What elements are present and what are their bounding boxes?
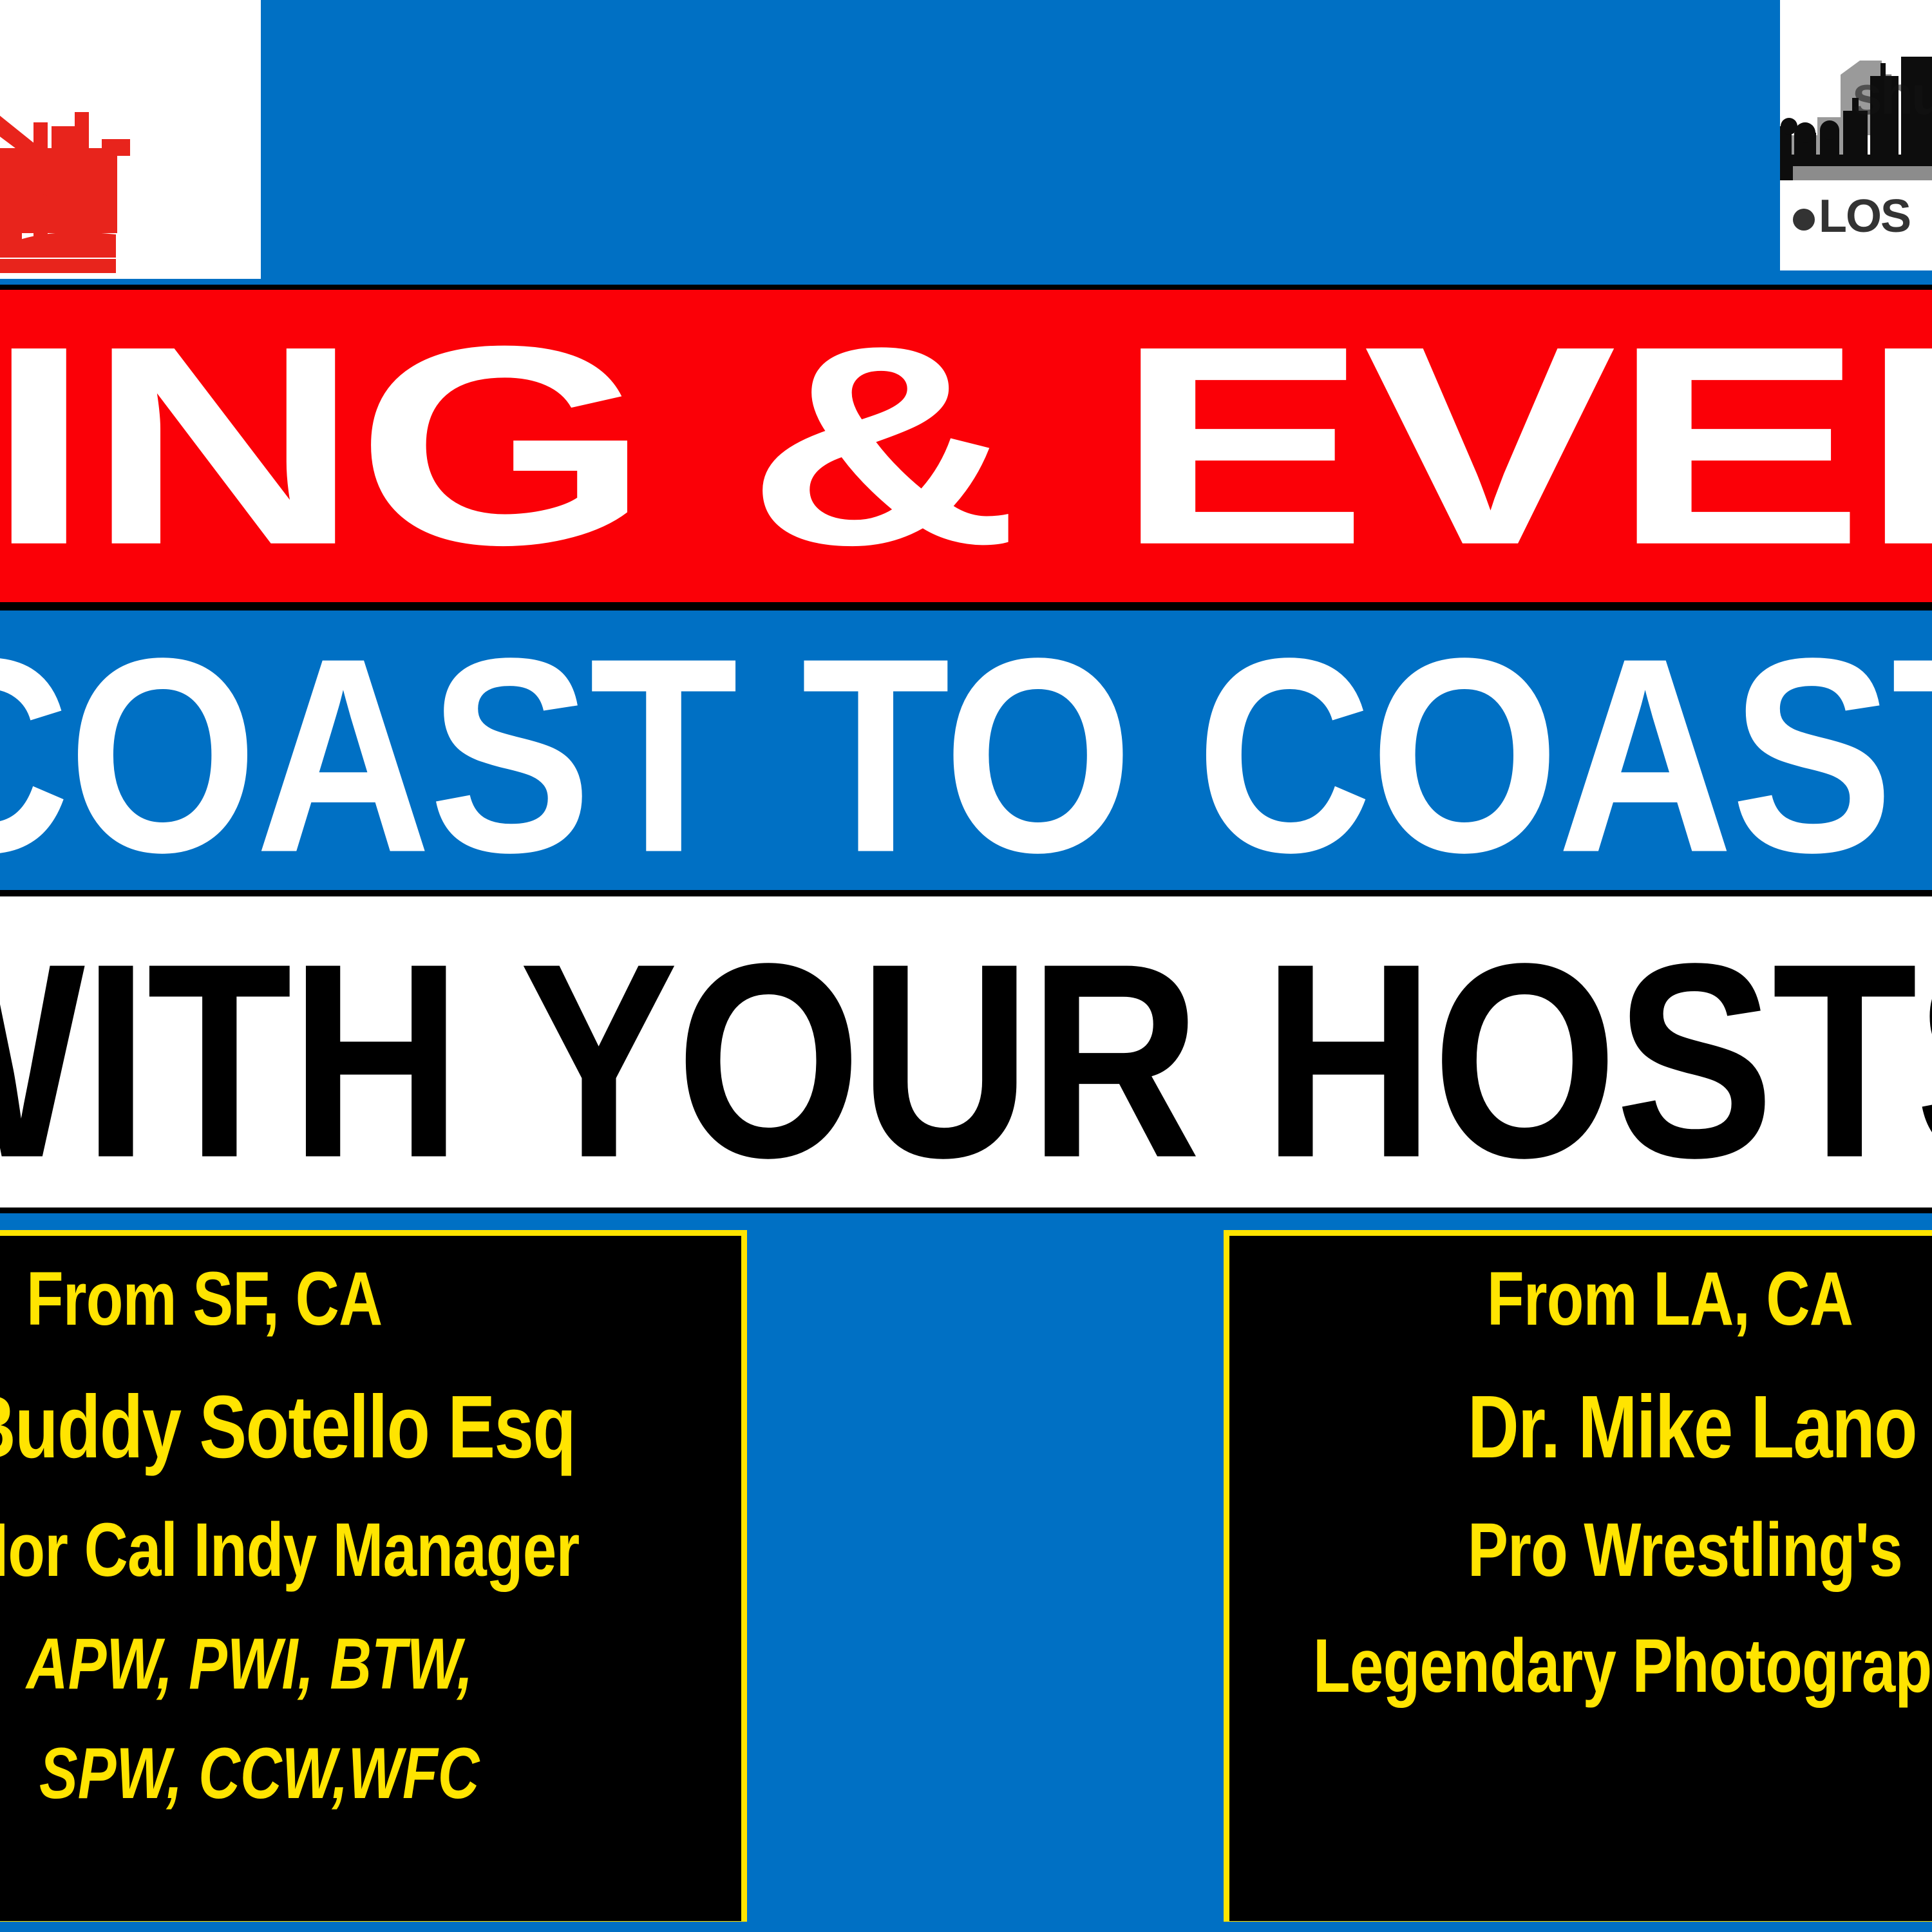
hosts-area: From SF, CA Buddy Sotello Esq Nor Cal In…: [0, 1213, 1932, 1932]
host-sf-promotions-2: SPW, CCW,WFC: [39, 1732, 479, 1815]
los-angeles-label: LOS: [1793, 193, 1910, 240]
los-text: LOS: [1819, 191, 1910, 242]
la-logo-box: shu LOS: [1780, 0, 1932, 270]
host-la-name: Dr. Mike Lano: [1468, 1376, 1917, 1479]
host-la-role-2: Legendary Photographer: [1313, 1622, 1932, 1710]
separator-blue-1: [0, 279, 1932, 285]
show-title-primary: WRESTLING & EVERYTHING: [0, 324, 1932, 567]
footer-blue-strip: [0, 1922, 1932, 1932]
white-hosts-banner: WITH YOUR HOSTS: [0, 896, 1932, 1207]
host-sf-city: From SF, CA: [26, 1255, 382, 1343]
host-sf-role: Nor Cal Indy Manager: [0, 1506, 579, 1594]
sf-logo-box: [0, 0, 261, 279]
separator-black-4: [0, 1207, 1932, 1213]
separator-black-2: [0, 602, 1932, 611]
bullet-icon: [1793, 209, 1815, 231]
host-panel-la: From LA, CA Dr. Mike Lano Pro Wrestling'…: [1224, 1230, 1932, 1927]
shutterstock-watermark: shu: [1852, 64, 1932, 127]
logo-divider-bar: [1793, 166, 1932, 180]
separator-black-1: [0, 285, 1932, 290]
show-title-secondary: COAST TO COAST: [0, 631, 1932, 880]
host-la-city: From LA, CA: [1487, 1255, 1853, 1343]
hosts-heading: WITH YOUR HOSTS: [0, 936, 1932, 1186]
separator-black-3: [0, 890, 1932, 896]
host-panel-sf: From SF, CA Buddy Sotello Esq Nor Cal In…: [0, 1230, 747, 1927]
host-sf-promotions-1: APW, PWI, BTW,: [26, 1622, 473, 1705]
red-title-banner: WRESTLING & EVERYTHING: [0, 290, 1932, 602]
golden-gate-bridge-icon: [0, 19, 261, 277]
host-sf-name: Buddy Sotello Esq: [0, 1376, 575, 1479]
blue-subtitle-banner: COAST TO COAST: [0, 611, 1932, 890]
logo-band: shu LOS: [0, 0, 1932, 279]
podcast-poster: shu LOS WRESTLING & EVERYTHING COAST TO …: [0, 0, 1932, 1932]
host-la-role: Pro Wrestling's: [1468, 1506, 1902, 1594]
